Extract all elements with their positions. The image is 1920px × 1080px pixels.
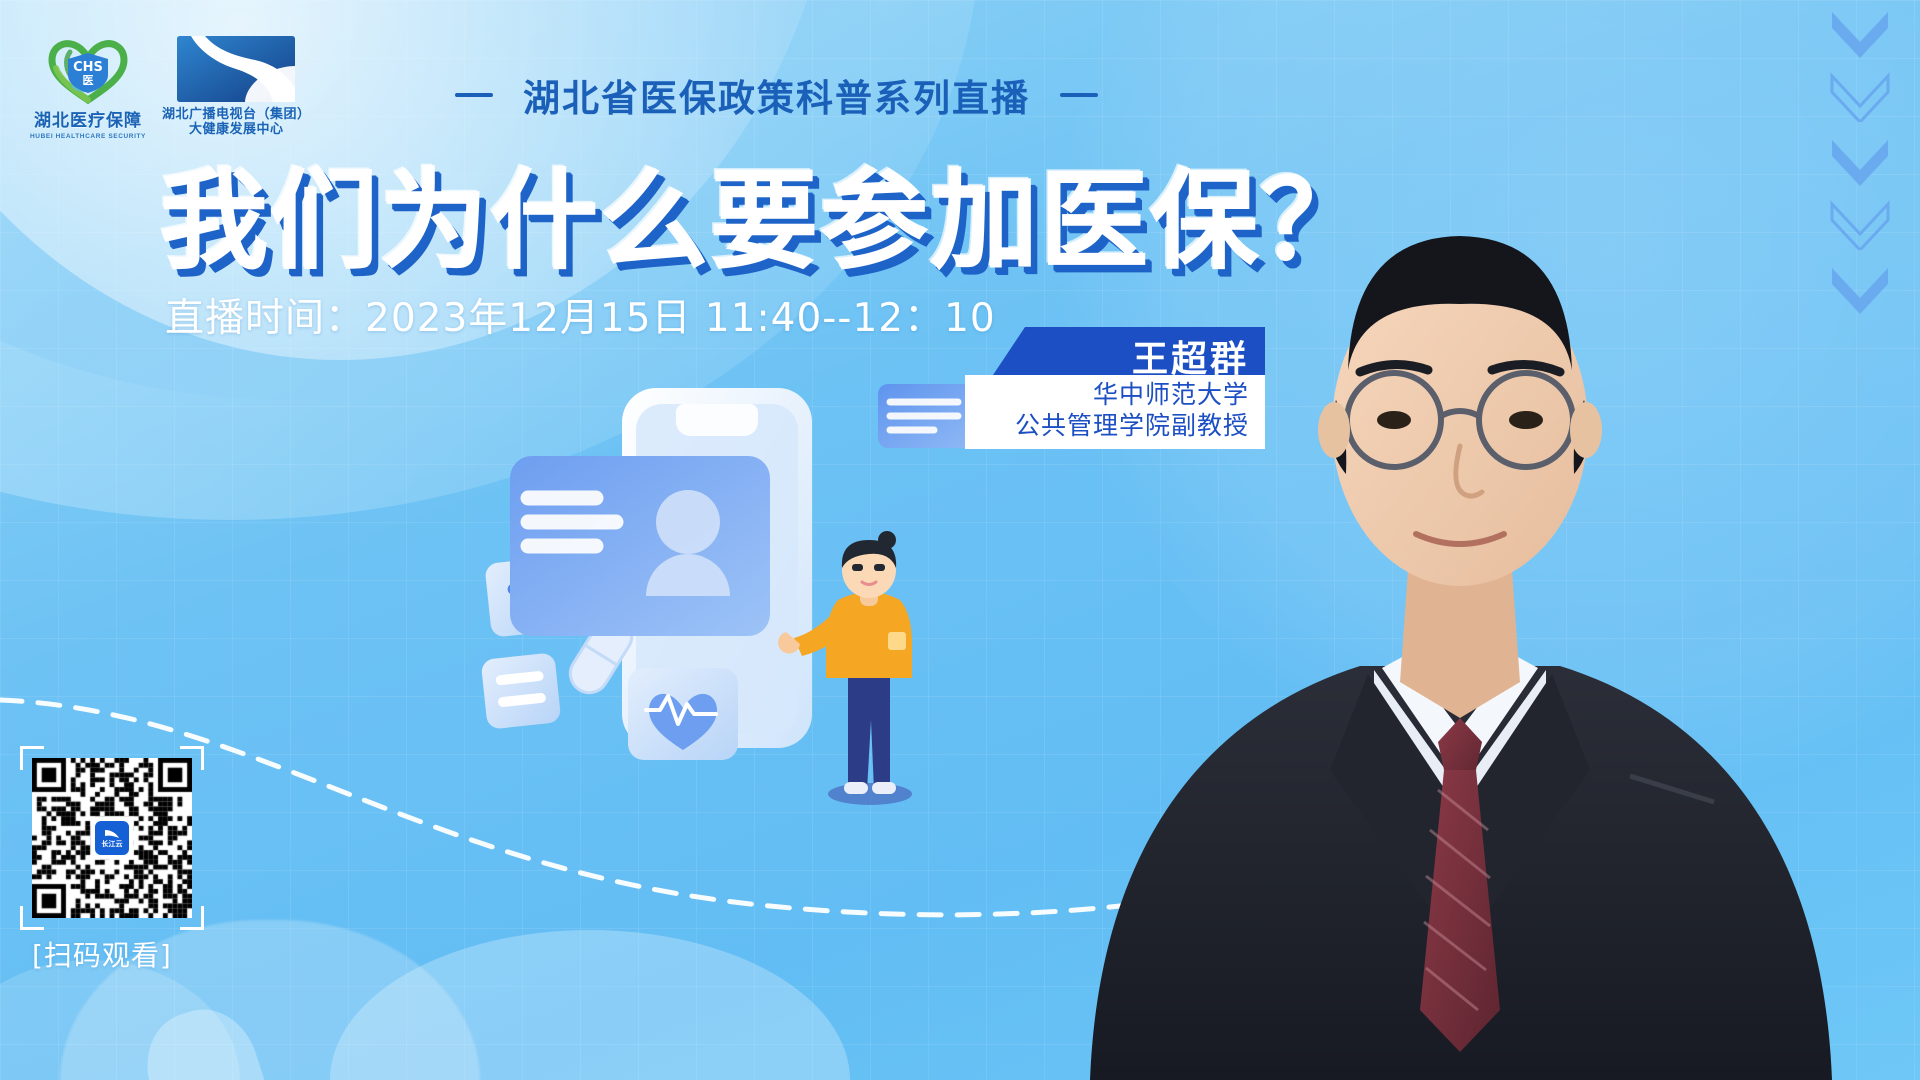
qr-caption: [扫码观看] [32, 934, 192, 974]
qr-logo-label: 长江云 [102, 841, 123, 848]
qr-corner-bottom-right-icon [180, 906, 204, 930]
header-dash-left-icon [455, 93, 493, 97]
presenter-photo [1030, 70, 1890, 1080]
series-header: 湖北省医保政策科普系列直播 [455, 68, 1098, 122]
livestream-time: 直播时间：2023年12月15日 11:40--12：10 [165, 287, 996, 343]
river-wave-icon [177, 36, 295, 102]
svg-text:医: 医 [83, 74, 94, 87]
chat-bubble-icon [878, 384, 974, 448]
qr-corner-bottom-left-icon [20, 906, 44, 930]
qr-code-block: 长江云 [扫码观看] [32, 758, 192, 974]
background-blob-center-bottom [330, 930, 850, 1080]
medical-card-icon [510, 456, 770, 636]
list-card-icon [481, 652, 562, 729]
hubei-radio-tv-logo: 湖北广播电视台（集团） 大健康发展中心 [162, 36, 311, 137]
qr-corner-top-left-icon [20, 746, 44, 770]
logo-label-en: HUBEI HEALTHCARE SECURITY [30, 133, 146, 140]
changjiangyun-logo-icon: 长江云 [93, 819, 131, 857]
series-title: 湖北省医保政策科普系列直播 [523, 68, 1030, 122]
logo-row: CHS 医 湖北医疗保障 HUBEI HEALTHCARE SECURITY 湖 [30, 34, 311, 140]
logo-label-cn: 湖北医疗保障 [34, 106, 142, 131]
logo-label-line1: 湖北广播电视台（集团） [162, 106, 311, 121]
qr-corner-top-right-icon [180, 746, 204, 770]
heartbeat-card-icon [628, 668, 738, 760]
heart-shield-icon: CHS 医 [40, 34, 136, 106]
qr-frame: 长江云 [32, 758, 192, 918]
chevron-down-icon [1828, 8, 1892, 58]
livestream-poster: CHS 医 湖北医疗保障 HUBEI HEALTHCARE SECURITY 湖 [0, 0, 1920, 1080]
logo-label-line2: 大健康发展中心 [189, 121, 284, 136]
hubei-healthcare-security-logo: CHS 医 湖北医疗保障 HUBEI HEALTHCARE SECURITY [30, 34, 146, 140]
medical-illustration [470, 370, 1030, 830]
swallow-icon [104, 828, 120, 840]
svg-text:CHS: CHS [73, 60, 103, 75]
